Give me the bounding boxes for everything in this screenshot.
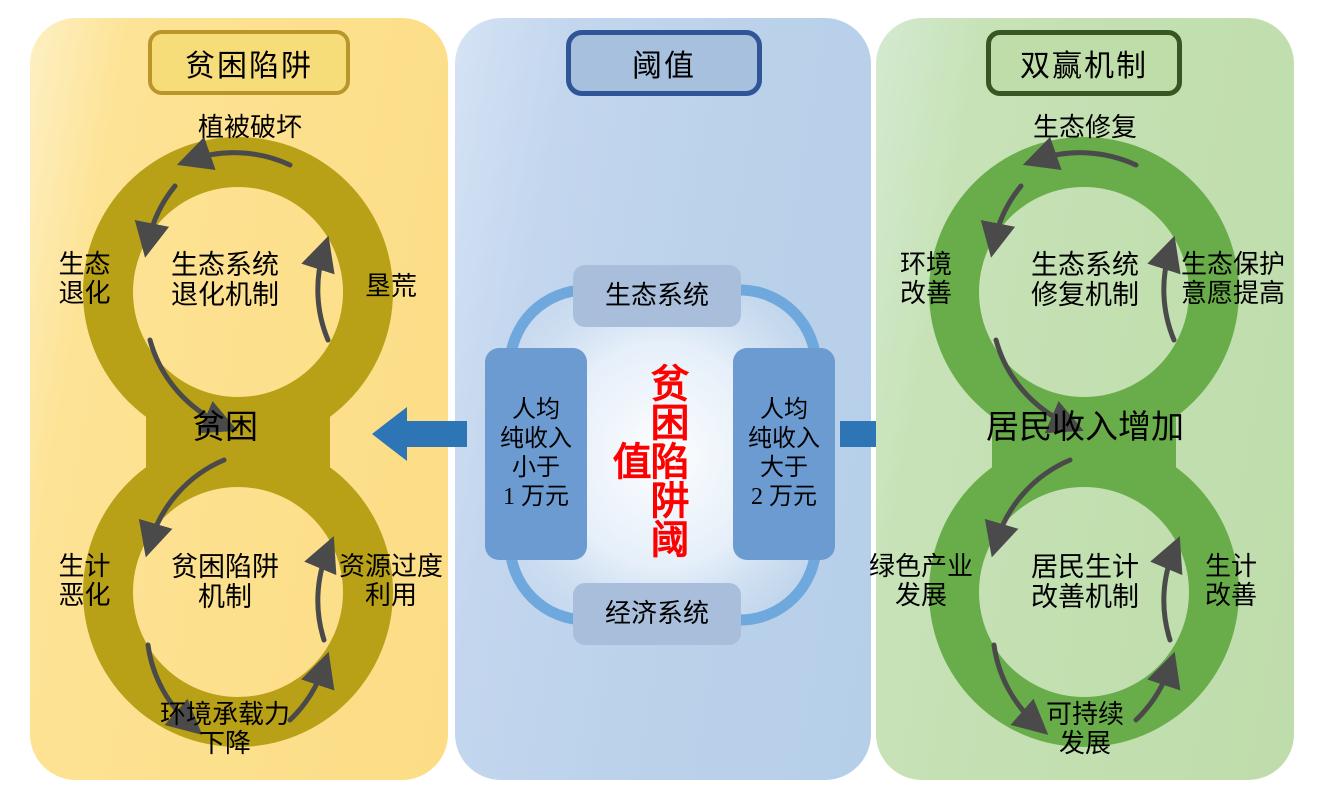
label-ecological-degradation: 生态 退化 [42,250,127,308]
panel-title-win-win: 双赢机制 [986,30,1182,96]
label-vegetation-destruction: 植被破坏 [155,113,345,142]
label-ecological-restoration: 生态修复 [1000,113,1170,142]
label-resource-overuse: 资源过度 利用 [330,552,452,610]
label-green-industry-development: 绿色产业 发展 [858,552,984,610]
arrow-left-svg [371,406,467,462]
label-poverty-trap-mechanism: 贫困陷阱 机制 [130,552,320,612]
label-livelihood-improvement: 生计 改善 [1186,552,1276,610]
label-sustainable-development: 可持续 发展 [990,700,1180,758]
label-ecosystem-degradation-mechanism: 生态系统 退化机制 [130,250,320,310]
label-poverty-junction: 贫困 [140,410,310,447]
box-ecosystem: 生态系统 [573,265,741,327]
box-economic-system: 经济系统 [573,583,741,645]
box-income-above-threshold: 人均 纯收入 大于 2 万元 [733,348,835,560]
label-livelihood-improvement-mechanism: 居民生计 改善机制 [990,552,1180,612]
label-livelihood-deterioration: 生计 恶化 [42,552,127,610]
label-conservation-willingness: 生态保护 意愿提高 [1168,250,1298,308]
label-environment-improvement: 环境 改善 [880,250,972,308]
label-poverty-trap-threshold: 贫困陷阱阈值 [637,344,685,576]
box-income-below-threshold: 人均 纯收入 小于 1 万元 [485,348,587,560]
panel-title-threshold: 阈值 [566,30,762,96]
label-land-reclamation: 垦荒 [352,272,430,301]
arrow-to-poverty-trap [371,406,467,462]
panel-title-poverty-trap: 贫困陷阱 [148,30,350,95]
label-resident-income-increase: 居民收入增加 [960,410,1210,447]
label-carrying-capacity-decline: 环境承载力 下降 [130,700,320,758]
label-ecosystem-restoration-mechanism: 生态系统 修复机制 [990,250,1180,310]
diagram-canvas: 贫困陷阱 植被破坏 生态系统 退化机制 生态 退化 垦荒 贫困 生计 恶化 贫困… [0,0,1322,797]
